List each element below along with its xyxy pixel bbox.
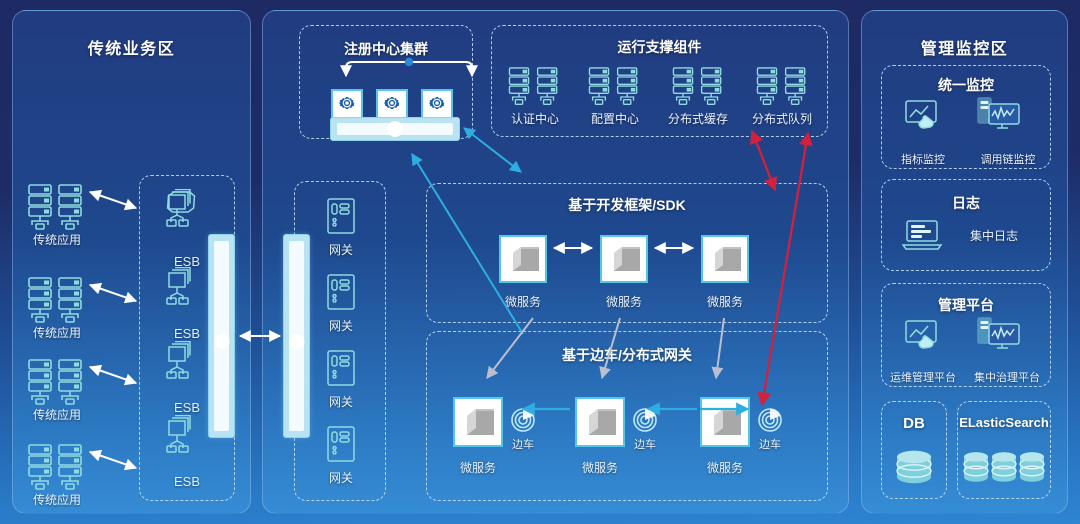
esb-icon [161, 189, 199, 231]
traditional-app-label: 传统应用 [15, 491, 99, 508]
monitor-zone-title: 统一监控 [881, 75, 1051, 95]
database-cluster-icon [963, 449, 1045, 494]
registry-cluster-title: 注册中心集群 [299, 39, 473, 59]
registry-load-bar[interactable] [330, 117, 460, 141]
panel-microservice-zone: 注册中心集群 [262, 10, 849, 514]
server-stack-icon [507, 67, 561, 107]
sidecar-icon [510, 407, 536, 433]
runtime-item-label: 分布式缓存 [653, 110, 743, 127]
server-stack-icon [27, 443, 85, 491]
database-icon [895, 449, 933, 494]
panel-title-right: 管理监控区 [862, 35, 1067, 59]
gateway-icon [326, 197, 356, 235]
microservice-label: 微服务 [687, 459, 763, 476]
governance-platform-icon [976, 317, 1022, 351]
cube-icon [702, 436, 752, 453]
runtime-item-label: 认证中心 [495, 110, 575, 127]
gateway-label: 网关 [301, 317, 381, 334]
gear-icon [382, 93, 402, 118]
esb-icon [161, 415, 199, 457]
platform-item-label: 集中治理平台 [960, 369, 1054, 385]
server-stack-icon [587, 67, 641, 107]
gateway-icon [326, 273, 356, 311]
cube-icon [577, 436, 627, 453]
monitor-item-label: 调用链监控 [966, 151, 1050, 167]
microservice-label: 微服务 [485, 293, 561, 310]
gateway-icon [326, 349, 356, 387]
elasticsearch-title: ELasticSearch [955, 415, 1053, 430]
sidecar-zone-title: 基于边车/分布式网关 [426, 345, 828, 365]
panel-management-monitor-zone: 管理监控区 统一监控 指标监控 调用链监控 日志 [861, 10, 1068, 514]
bus-bar-knob[interactable] [289, 334, 304, 349]
cube-icon [602, 272, 650, 289]
microservice-label: 微服务 [586, 293, 662, 310]
runtime-support-title: 运行支撑组件 [491, 37, 828, 57]
platform-item-label: 运维管理平台 [876, 369, 970, 385]
sidecar-icon [757, 407, 783, 433]
sidecar-label: 边车 [625, 436, 665, 452]
runtime-item-label: 配置中心 [575, 110, 655, 127]
server-stack-icon [755, 67, 809, 107]
server-stack-icon [671, 67, 725, 107]
db-title: DB [881, 415, 947, 432]
runtime-item-label: 分布式队列 [737, 110, 827, 127]
gateway-bus-bar[interactable] [283, 234, 310, 438]
server-stack-icon [27, 183, 85, 231]
ops-platform-icon [904, 319, 942, 351]
microservice-tile[interactable] [575, 397, 625, 447]
server-stack-icon [27, 276, 85, 324]
gateway-label: 网关 [301, 393, 381, 410]
gear-icon [337, 93, 357, 118]
traditional-app-label: 传统应用 [15, 231, 99, 248]
diagram-canvas: 传统业务区 传统应用 传统应用 [0, 0, 1080, 524]
panel-title-left: 传统业务区 [13, 35, 250, 59]
sdk-zone-title: 基于开发框架/SDK [426, 195, 828, 215]
platform-zone-title: 管理平台 [881, 295, 1051, 315]
server-stack-icon [27, 358, 85, 406]
gateway-icon [326, 425, 356, 463]
microservice-label: 微服务 [562, 459, 638, 476]
gateway-label: 网关 [301, 241, 381, 258]
traditional-app-label: 传统应用 [15, 406, 99, 423]
sidecar-label: 边车 [503, 436, 543, 452]
microservice-tile[interactable] [453, 397, 503, 447]
esb-icon [161, 267, 199, 309]
log-item-label: 集中日志 [950, 227, 1038, 244]
log-zone-title: 日志 [881, 193, 1051, 213]
cube-icon [501, 272, 549, 289]
esb-bus-bar[interactable] [208, 234, 235, 438]
microservice-tile[interactable] [600, 235, 648, 283]
sidecar-label: 边车 [750, 436, 790, 452]
cube-icon [455, 436, 505, 453]
trace-monitor-icon [976, 97, 1022, 131]
microservice-tile[interactable] [701, 235, 749, 283]
monitor-item-label: 指标监控 [884, 151, 962, 167]
cube-icon [703, 272, 751, 289]
traditional-app-label: 传统应用 [15, 324, 99, 341]
metrics-monitor-icon [904, 99, 942, 131]
esb-label: ESB [143, 474, 231, 489]
microservice-tile[interactable] [700, 397, 750, 447]
laptop-log-icon [902, 219, 944, 251]
gear-icon [427, 93, 447, 118]
microservice-tile[interactable] [499, 235, 547, 283]
microservice-label: 微服务 [440, 459, 516, 476]
registry-load-knob[interactable] [387, 121, 403, 137]
sidecar-icon [632, 407, 658, 433]
microservice-label: 微服务 [687, 293, 763, 310]
esb-icon [161, 341, 199, 383]
gateway-label: 网关 [301, 469, 381, 486]
bus-bar-knob[interactable] [214, 334, 229, 349]
